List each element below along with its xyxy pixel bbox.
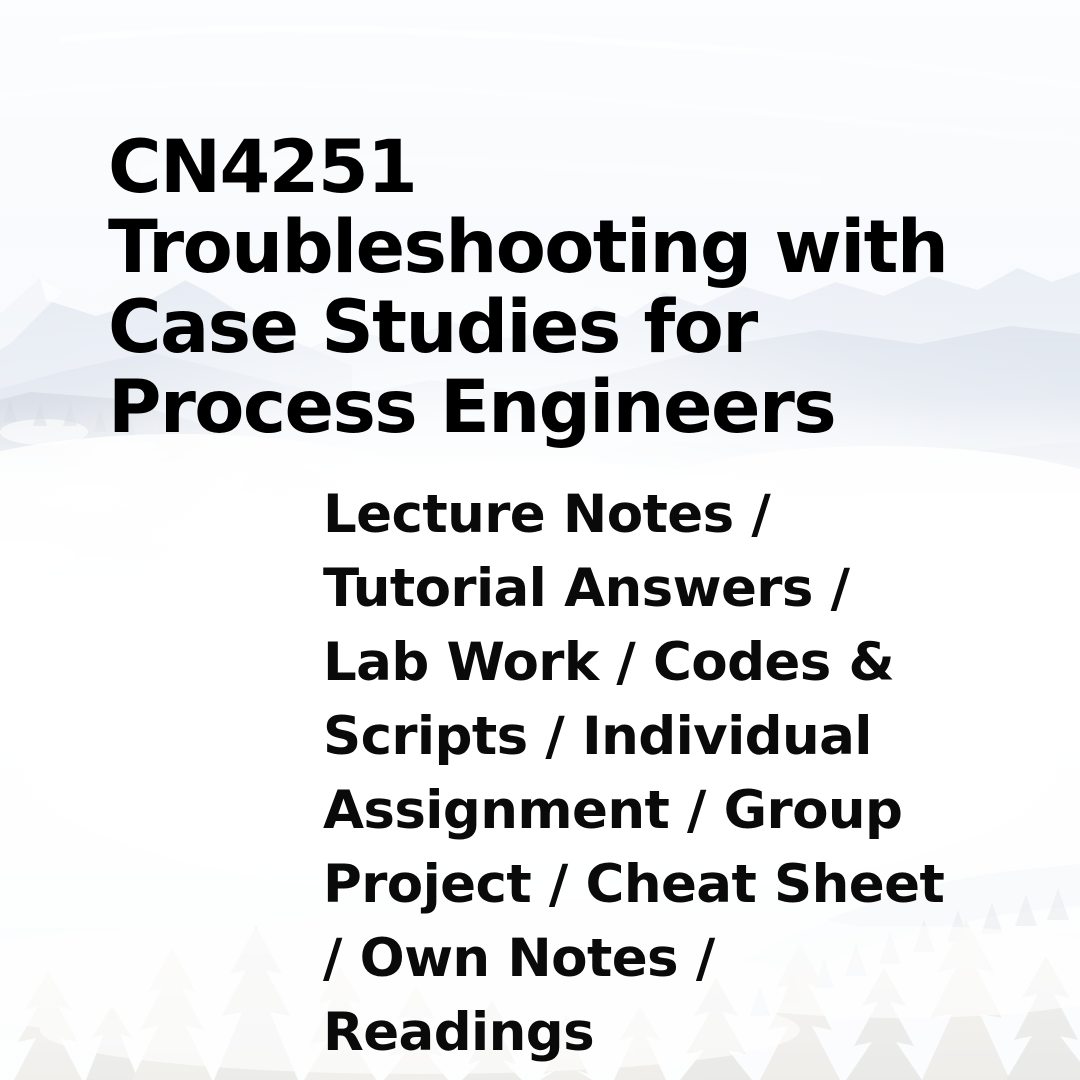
content-list-text: Lecture Notes / Tutorial Answers / Lab W… — [323, 478, 963, 1070]
body-block: Lecture Notes / Tutorial Answers / Lab W… — [323, 478, 963, 1070]
poster-canvas: CN4251 Troubleshooting with Case Studies… — [0, 0, 1080, 1080]
title-block: CN4251 Troubleshooting with Case Studies… — [108, 128, 1058, 448]
page-title: CN4251 Troubleshooting with Case Studies… — [108, 128, 1058, 448]
